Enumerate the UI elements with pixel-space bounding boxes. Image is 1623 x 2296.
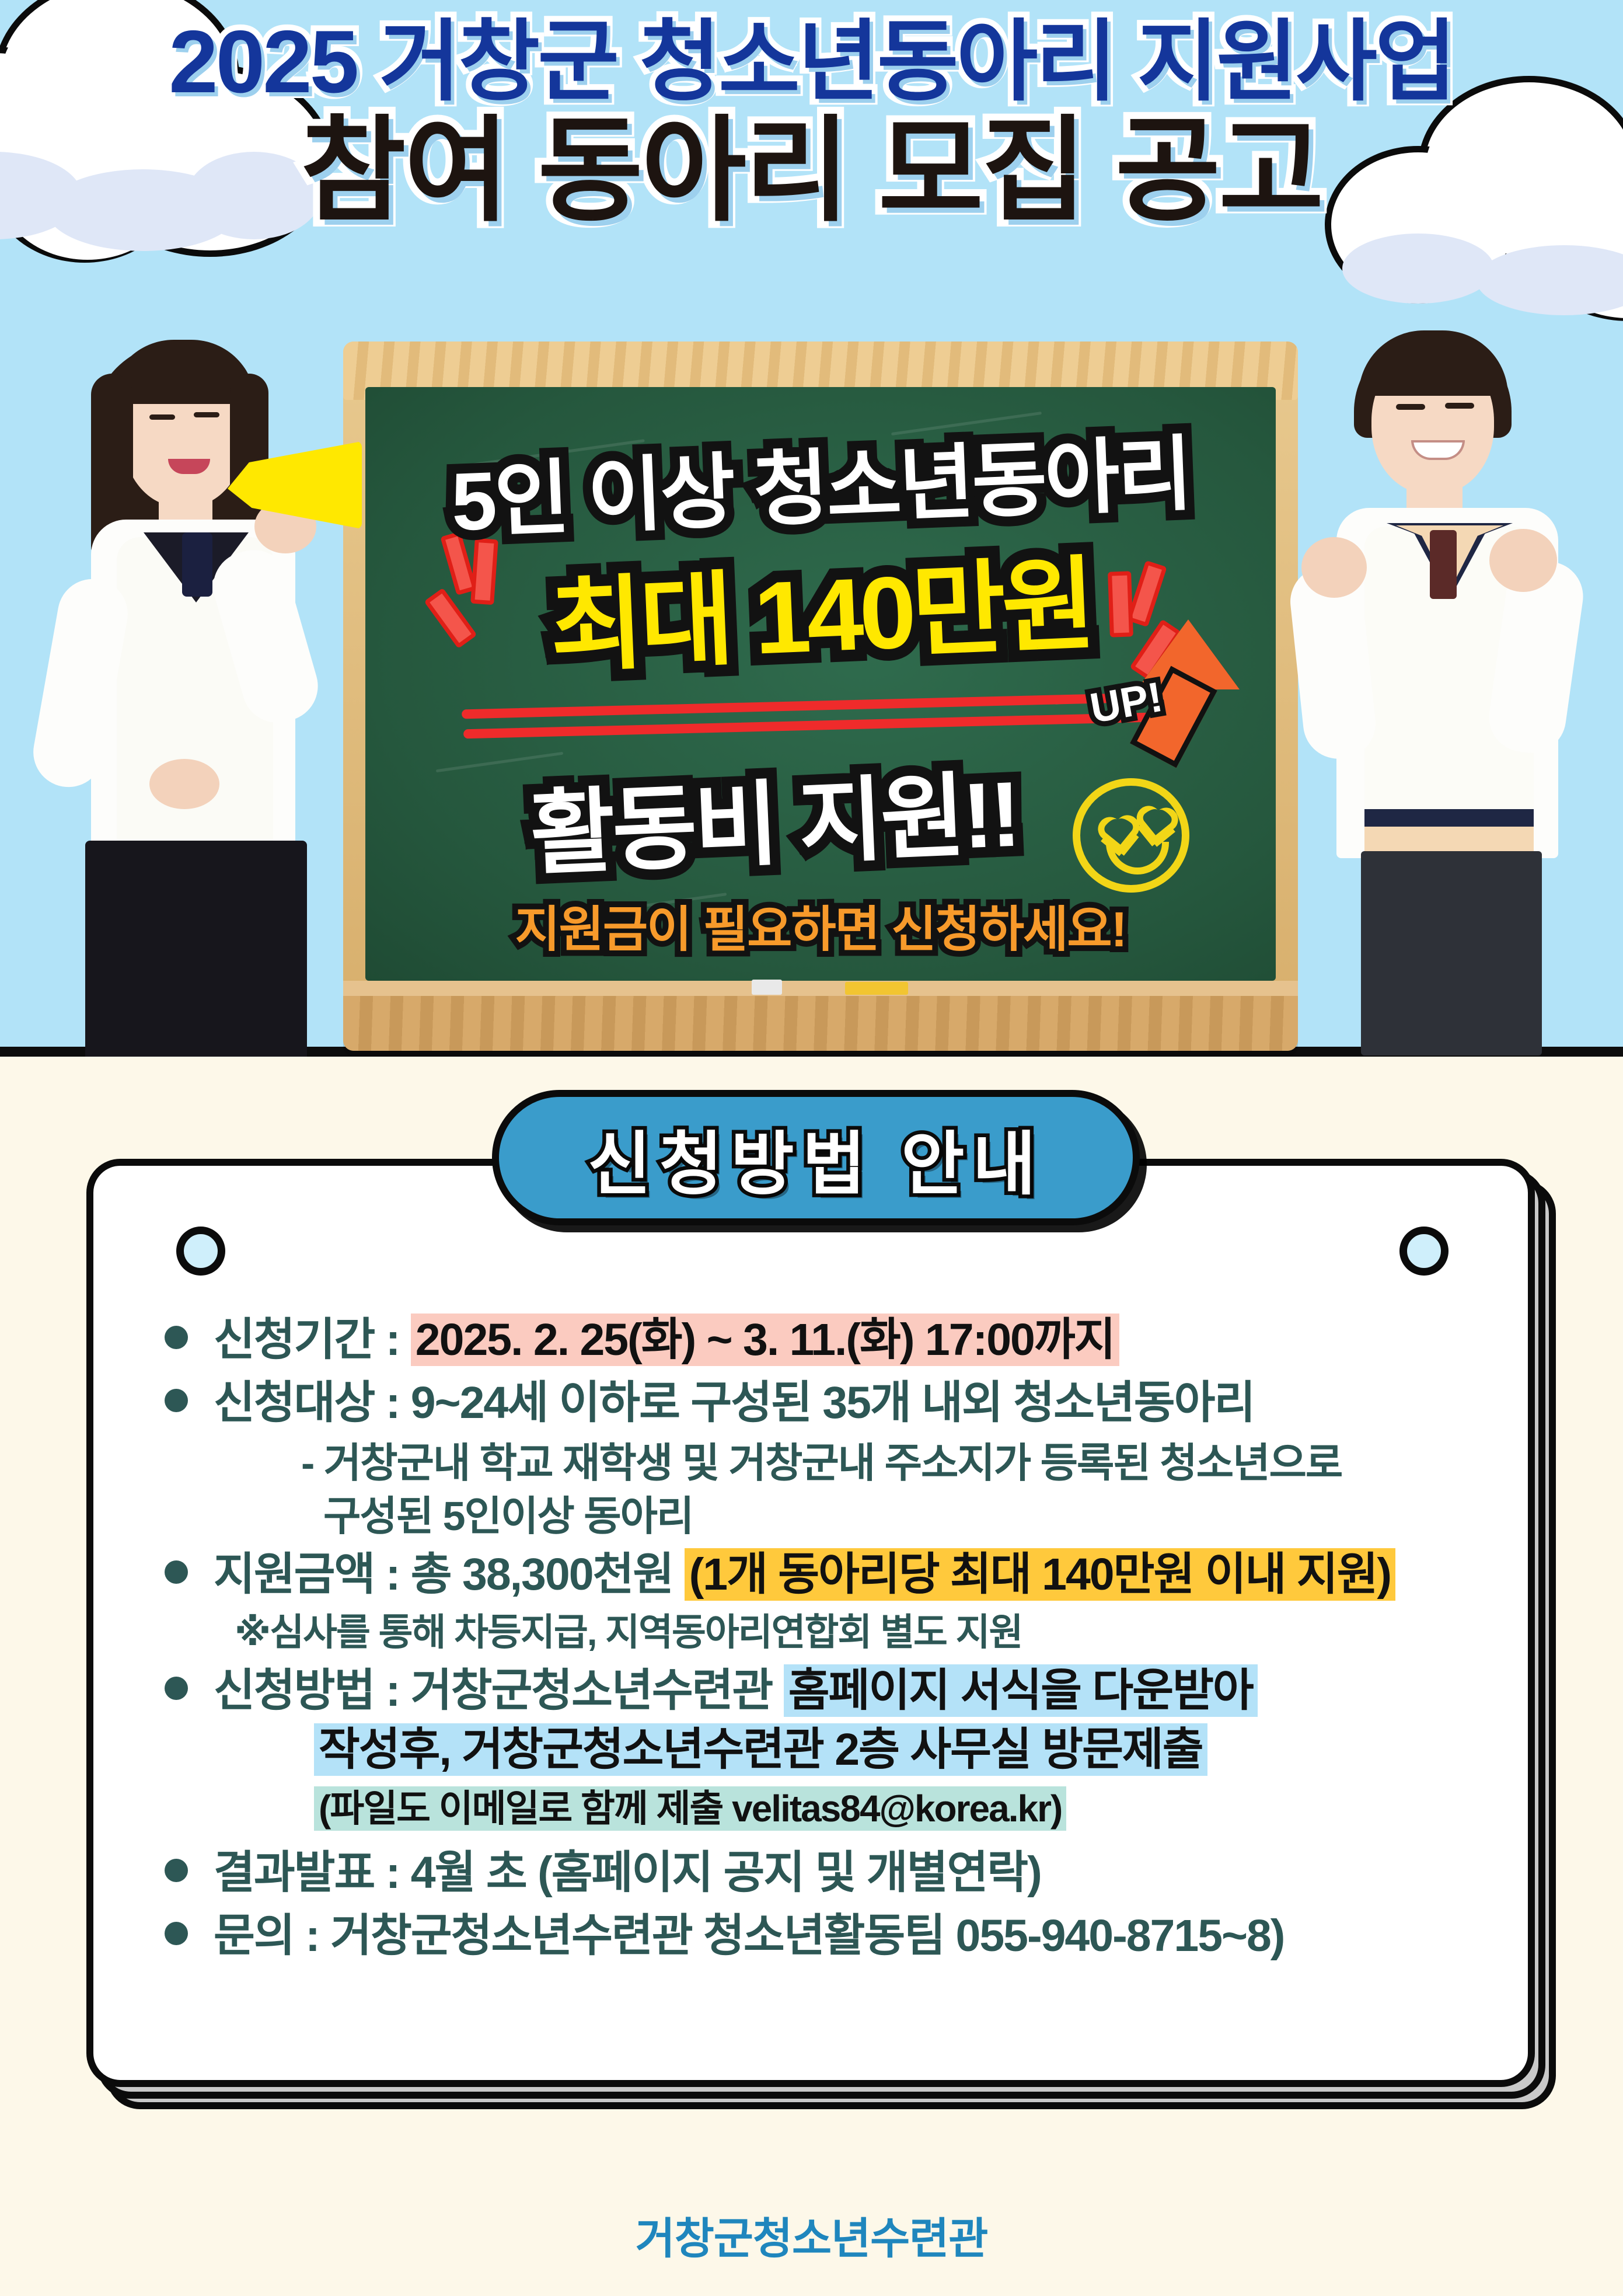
list-item-eligibility: 신청대상 : 9~24세 이하로 구성된 35개 내외 청소년동아리 [156, 1374, 1464, 1432]
application-period-line: 신청기간 : 2025. 2. 25(화) ~ 3. 11.(화) 17:00까… [214, 1311, 1464, 1369]
info-card: 신청방법 안내 신청기간 : 2025. 2. 25(화) ~ 3. 11.(화… [86, 1159, 1545, 2087]
punch-hole-icon-right [1399, 1227, 1449, 1276]
chalkboard: 5인 이상 청소년동아리 최대 140만원 UP! 활동비 지원!! [343, 342, 1298, 1051]
eligibility-value: 9~24세 이하로 구성된 35개 내외 청소년동아리 [411, 1378, 1255, 1428]
punch-hole-icon-left [176, 1227, 225, 1276]
card-title-pill: 신청방법 안내 [492, 1090, 1140, 1225]
fist-right-icon [1489, 529, 1557, 592]
contact-label: 문의 : [214, 1911, 330, 1961]
eligibility-sub-line-1: - 거창군내 학교 재학생 및 거창군내 주소지가 등록된 청소년으로 [214, 1437, 1464, 1490]
contact-value: 거창군청소년수련관 청소년활동팀 055-940-8715~8) [330, 1911, 1284, 1961]
how-to-apply-line-1: 신청방법 : 거창군청소년수련관 홈페이지 서식을 다운받아 [214, 1661, 1464, 1720]
result-announcement-line: 결과발표 : 4월 초 (홈페이지 공지 및 개별연락) [214, 1844, 1464, 1902]
footer: 거창군청소년수련관 [0, 2204, 1623, 2266]
how-to-apply-label: 신청방법 : 거창군청소년수련관 [214, 1666, 784, 1716]
application-period-value: 2025. 2. 25(화) ~ 3. 11.(화) 17:00까지 [411, 1314, 1119, 1366]
heart-eyes-smiley-icon [1073, 778, 1189, 893]
poster-title-line1: 2025 거창군 청소년동아리 지원사업 [0, 15, 1623, 109]
how-to-apply-email-line: (파일도 이메일로 함께 제출 velitas84@korea.kr) [214, 1785, 1464, 1833]
funding-amount-value: (1개 동아리당 최대 140만원 이내 지원) [685, 1548, 1395, 1601]
funding-amount-label: 지원금액 : 총 38,300천원 [214, 1549, 685, 1600]
funding-note: ※심사를 통해 차등지급, 지역동아리연합회 별도 지원 [214, 1608, 1464, 1657]
bullet-dot-icon [165, 1389, 188, 1412]
fist-left-icon [1301, 537, 1367, 598]
list-item-funding-amount: 지원금액 : 총 38,300천원 (1개 동아리당 최대 140만원 이내 지… [156, 1545, 1464, 1604]
chalkboard-surface: 5인 이상 청소년동아리 최대 140만원 UP! 활동비 지원!! [365, 387, 1276, 981]
info-list: 신청기간 : 2025. 2. 25(화) ~ 3. 11.(화) 17:00까… [156, 1311, 1464, 1970]
how-to-apply-line-2: 작성후, 거창군청소년수련관 2층 사무실 방문제출 [214, 1720, 1464, 1779]
list-item-result-announcement: 결과발표 : 4월 초 (홈페이지 공지 및 개별연락) [156, 1844, 1464, 1902]
list-item-funding-note: ※심사를 통해 차등지급, 지역동아리연합회 별도 지원 [156, 1608, 1464, 1657]
result-announcement-value: 4월 초 (홈페이지 공지 및 개별연락) [411, 1848, 1041, 1898]
bullet-dot-icon [165, 1922, 188, 1945]
funding-amount-line: 지원금액 : 총 38,300천원 (1개 동아리당 최대 140만원 이내 지… [214, 1545, 1464, 1604]
list-item-how-to-apply: 신청방법 : 거창군청소년수련관 홈페이지 서식을 다운받아 작성후, 거창군청… [156, 1661, 1464, 1832]
list-item-contact: 문의 : 거창군청소년수련관 청소년활동팀 055-940-8715~8) [156, 1907, 1464, 1965]
how-to-apply-value-1: 홈페이지 서식을 다운받아 [784, 1664, 1258, 1717]
email-submission-note: (파일도 이메일로 함께 제출 velitas84@korea.kr) [314, 1786, 1066, 1831]
footer-organization: 거창군청소년수련관 [636, 2214, 988, 2263]
poster-title-line2: 참여 동아리 모집 공고 [0, 113, 1623, 229]
list-item-application-period: 신청기간 : 2025. 2. 25(화) ~ 3. 11.(화) 17:00까… [156, 1311, 1464, 1369]
board-subline: 지원금이 필요하면 신청하세요! [365, 890, 1276, 961]
student-photo-left [35, 327, 350, 1057]
eligibility-line: 신청대상 : 9~24세 이하로 구성된 35개 내외 청소년동아리 [214, 1374, 1464, 1432]
student-photo-right [1284, 315, 1611, 1057]
eligibility-sub-line-2: 구성된 5인이상 동아리 [214, 1490, 1464, 1543]
application-period-label: 신청기간 : [214, 1315, 411, 1365]
card-title-label: 신청방법 안내 [588, 1108, 1044, 1208]
result-announcement-label: 결과발표 : [214, 1848, 411, 1898]
bullet-dot-icon [165, 1560, 188, 1584]
red-underline-2 [463, 713, 1150, 739]
contact-line: 문의 : 거창군청소년수련관 청소년활동팀 055-940-8715~8) [214, 1907, 1464, 1965]
chalkboard-ledge [343, 981, 1298, 1051]
eligibility-label: 신청대상 : [214, 1378, 411, 1428]
chalk-piece-white-icon [752, 980, 782, 995]
bullet-dot-icon [165, 1677, 188, 1700]
how-to-apply-value-2: 작성후, 거창군청소년수련관 2층 사무실 방문제출 [314, 1723, 1207, 1776]
bullet-dot-icon [165, 1326, 188, 1349]
poster-title: 2025 거창군 청소년동아리 지원사업 참여 동아리 모집 공고 [0, 15, 1623, 229]
chalk-piece-yellow-icon [845, 982, 908, 995]
bullet-dot-icon [165, 1859, 188, 1882]
list-item-eligibility-notes: - 거창군내 학교 재학생 및 거창군내 주소지가 등록된 청소년으로 구성된 … [156, 1437, 1464, 1543]
poster-root: 5인 이상 청소년동아리 최대 140만원 UP! 활동비 지원!! [0, 0, 1623, 2296]
